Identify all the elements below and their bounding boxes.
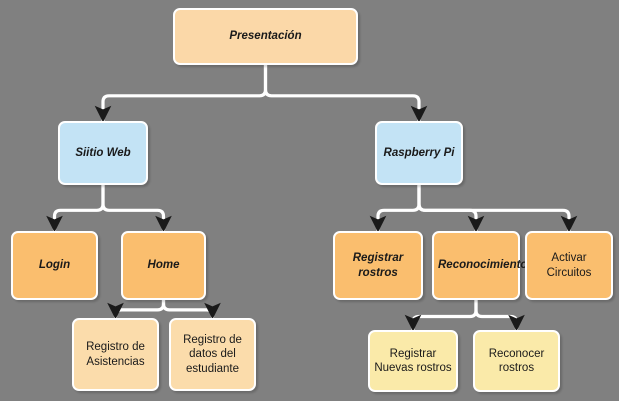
- node-login[interactable]: Login: [11, 231, 98, 300]
- edge-reconocimiento-to-registrar-nuevas-rostros: [413, 300, 476, 329]
- edge-sitio-web-to-login: [55, 185, 104, 230]
- node-presentacion[interactable]: Presentación: [173, 8, 358, 65]
- node-label: Home: [127, 258, 200, 272]
- node-sitio-web[interactable]: Siitio Web: [58, 121, 148, 185]
- node-label: Raspberry Pi: [381, 146, 457, 160]
- edge-raspberry-pi-to-registrar-rostros: [378, 185, 419, 230]
- edge-raspberry-pi-to-reconocimiento: [419, 185, 476, 230]
- node-activar-circuitos[interactable]: Activar Circuitos: [525, 231, 613, 300]
- node-label: Presentación: [179, 29, 352, 43]
- node-raspberry-pi[interactable]: Raspberry Pi: [375, 121, 463, 185]
- node-registrar-rostros[interactable]: Registrar rostros: [333, 231, 423, 300]
- edge-reconocimiento-to-reconocer-rostros: [476, 300, 517, 329]
- node-home[interactable]: Home: [121, 231, 206, 300]
- node-label: Reconocimiento: [438, 258, 514, 272]
- node-registro-datos-estudiante[interactable]: Registro de datos del estudiante: [169, 318, 256, 391]
- node-label: Activar Circuitos: [531, 251, 607, 280]
- edge-presentacion-to-sitio-web: [103, 65, 266, 120]
- node-label: Registro de datos del estudiante: [175, 333, 250, 376]
- node-registro-asistencias[interactable]: Registro de Asistencias: [72, 318, 159, 391]
- diagram-canvas: Presentación Siitio Web Raspberry Pi Log…: [0, 0, 619, 401]
- node-label: Registrar Nuevas rostros: [374, 347, 452, 376]
- node-label: Siitio Web: [64, 146, 142, 160]
- node-label: Registrar rostros: [339, 251, 417, 280]
- node-reconocer-rostros[interactable]: Reconocer rostros: [473, 330, 560, 392]
- node-label: Reconocer rostros: [479, 347, 554, 376]
- edge-presentacion-to-raspberry-pi: [266, 65, 420, 120]
- node-registrar-nuevas-rostros[interactable]: Registrar Nuevas rostros: [368, 330, 458, 392]
- edge-home-to-registro-datos-estudiante: [164, 300, 213, 317]
- edge-raspberry-pi-to-activar-circuitos: [419, 185, 569, 230]
- node-label: Registro de Asistencias: [78, 340, 153, 369]
- node-label: Login: [17, 258, 92, 272]
- edge-home-to-registro-asistencias: [116, 300, 164, 317]
- node-reconocimiento[interactable]: Reconocimiento: [432, 231, 520, 300]
- edge-sitio-web-to-home: [103, 185, 164, 230]
